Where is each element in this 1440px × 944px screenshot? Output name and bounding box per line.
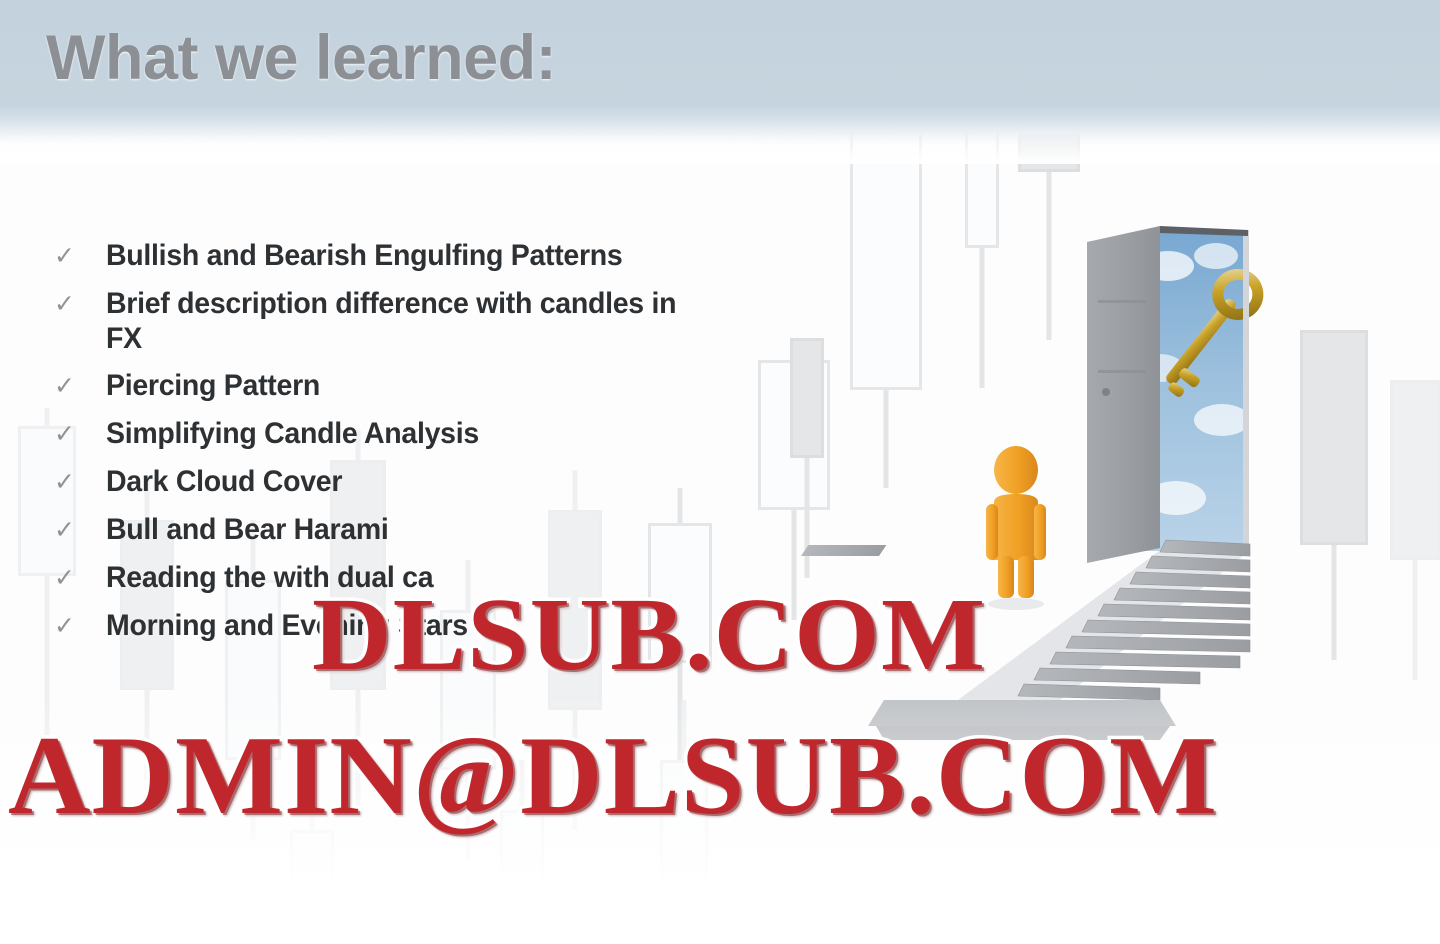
list-item-label: Dark Cloud Cover bbox=[106, 464, 678, 499]
checkmark-icon: ✓ bbox=[48, 608, 106, 644]
list-item: ✓ Bull and Bear Harami bbox=[48, 512, 708, 548]
list-item: ✓ Brief description difference with cand… bbox=[48, 286, 708, 356]
slide-canvas: What we learned: ✓ Bullish and Bearish E… bbox=[0, 0, 1440, 944]
checkmark-icon: ✓ bbox=[48, 560, 106, 596]
list-item: ✓ Dark Cloud Cover bbox=[48, 464, 708, 500]
list-item-label: Piercing Pattern bbox=[106, 368, 678, 403]
list-item: ✓ Piercing Pattern bbox=[48, 368, 708, 404]
page-title: What we learned: bbox=[46, 22, 556, 94]
list-item-label: Bullish and Bearish Engulfing Patterns bbox=[106, 238, 678, 273]
list-item-label: Simplifying Candle Analysis bbox=[106, 416, 678, 451]
watermark-site: DLSUB.COM bbox=[312, 575, 986, 694]
checkmark-icon: ✓ bbox=[48, 238, 106, 274]
list-item: ✓ Simplifying Candle Analysis bbox=[48, 416, 708, 452]
checkmark-icon: ✓ bbox=[48, 512, 106, 548]
checkmark-icon: ✓ bbox=[48, 368, 106, 404]
checkmark-icon: ✓ bbox=[48, 416, 106, 452]
checkmark-icon: ✓ bbox=[48, 464, 106, 500]
person-figure bbox=[986, 446, 1046, 610]
list-item: ✓ Bullish and Bearish Engulfing Patterns bbox=[48, 238, 708, 274]
checkmark-icon: ✓ bbox=[48, 286, 106, 322]
watermark-email: ADMIN@DLSUB.COM bbox=[8, 712, 1218, 841]
list-item-label: Brief description difference with candle… bbox=[106, 286, 678, 356]
list-item-label: Bull and Bear Harami bbox=[106, 512, 678, 547]
